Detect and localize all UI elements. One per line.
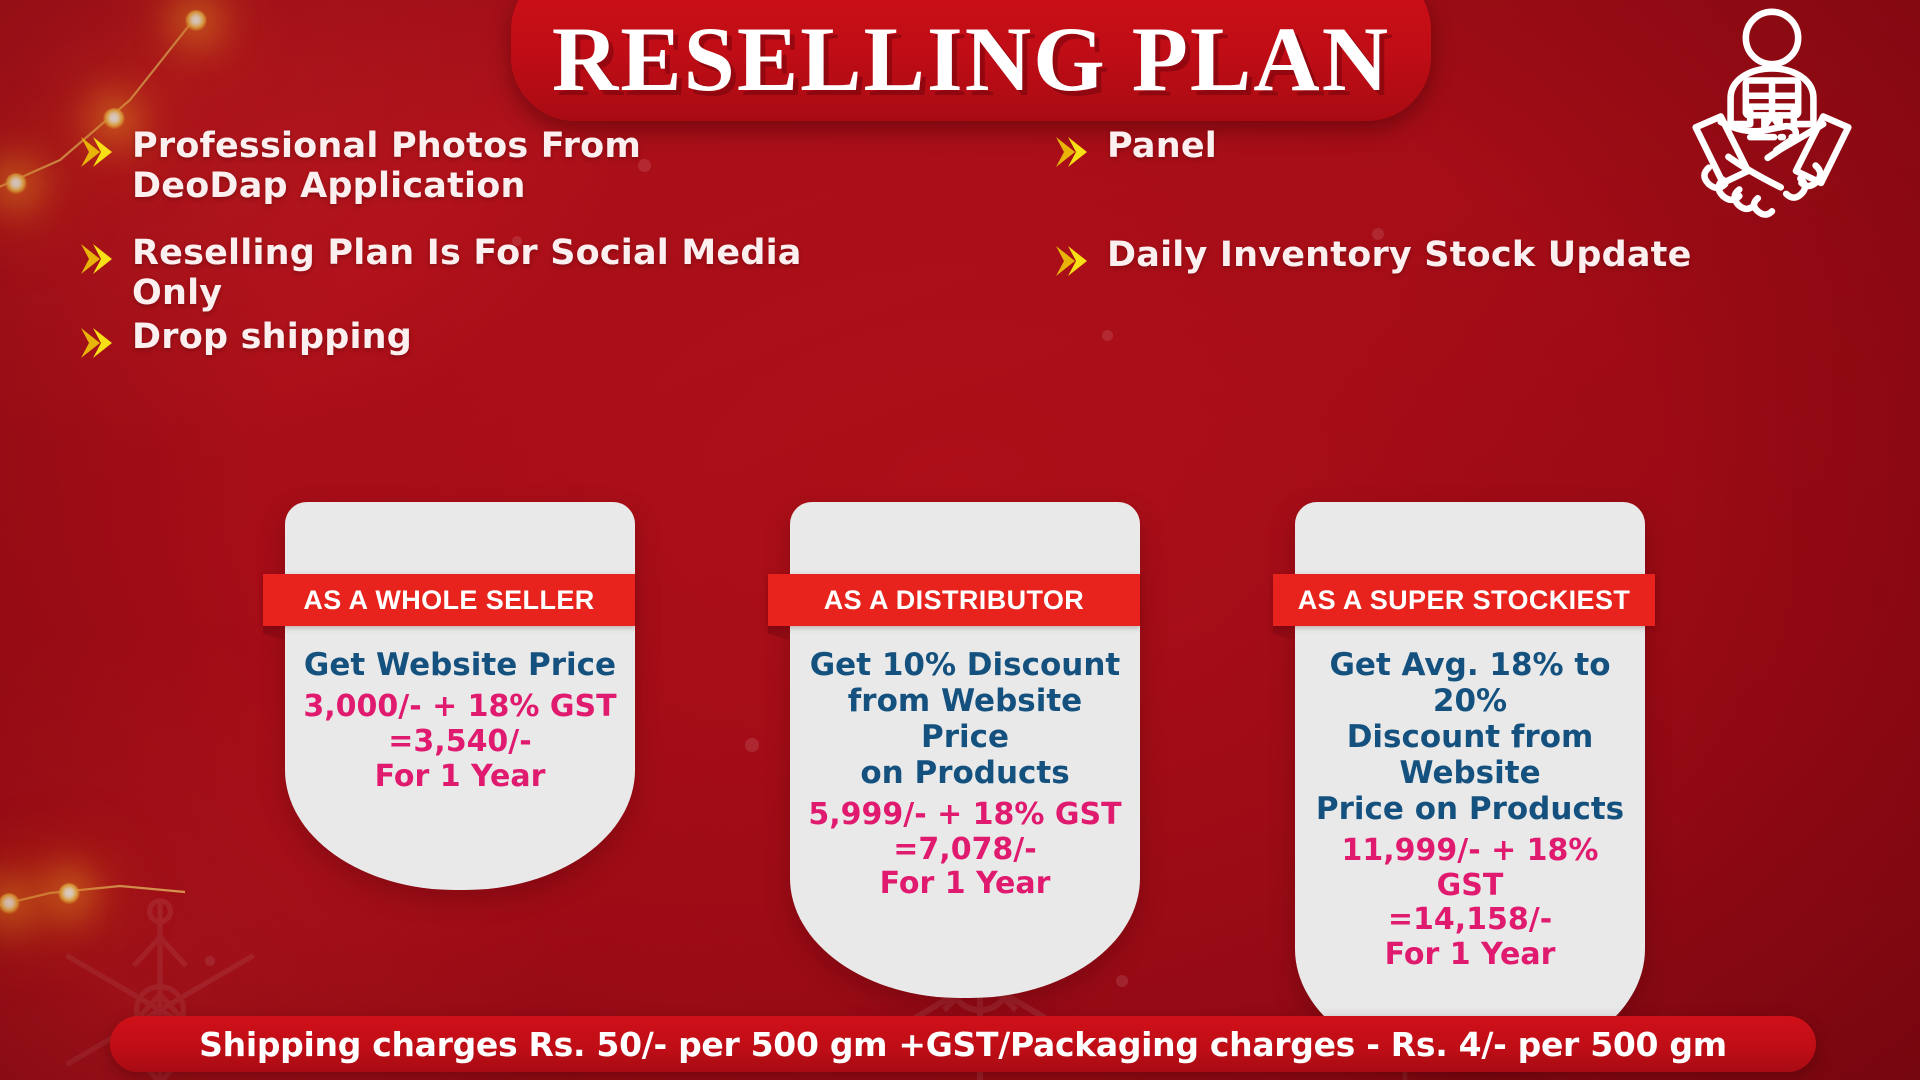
plan-ribbon-label: AS A DISTRIBUTOR (824, 585, 1084, 616)
plan-card-distributor: Get 10% Discount from Website Price on P… (790, 502, 1140, 998)
plan-price: 11,999/- + 18% GST =14,158/- For 1 Year (1309, 834, 1631, 973)
plan-card-content: Get Website Price 3,000/- + 18% GST =3,5… (285, 626, 635, 890)
plan-ribbon-label: AS A SUPER STOCKIEST (1298, 585, 1631, 616)
feature-item-social-media-only: Reselling Plan Is For Social Media Only (78, 234, 838, 314)
chevron-right-icon (1053, 135, 1093, 174)
plan-ribbon-label: AS A WHOLE SELLER (303, 585, 594, 616)
plan-title: Get Website Price (299, 648, 621, 684)
plan-card-content: Get 10% Discount from Website Price on P… (790, 626, 1140, 998)
feature-item-panel: Panel (1053, 127, 1353, 174)
chevron-right-icon (78, 242, 118, 281)
feature-label: Reselling Plan Is For Social Media Only (132, 234, 838, 314)
plan-card-content: Get Avg. 18% to 20% Discount from Websit… (1295, 626, 1645, 1069)
plan-ribbon: AS A SUPER STOCKIEST (1273, 574, 1655, 626)
plan-price: 3,000/- + 18% GST =3,540/- For 1 Year (299, 690, 621, 794)
plan-card-whole-seller: Get Website Price 3,000/- + 18% GST =3,5… (285, 502, 635, 890)
feature-label: Professional Photos From DeoDap Applicat… (132, 127, 798, 207)
plan-price: 5,999/- + 18% GST =7,078/- For 1 Year (804, 798, 1126, 902)
feature-label: Panel (1107, 127, 1217, 167)
feature-item-drop-shipping: Drop shipping (78, 318, 578, 365)
title-banner: RESELLING PLAN (511, 0, 1431, 121)
page-title: RESELLING PLAN (552, 13, 1390, 121)
feature-label: Drop shipping (132, 318, 412, 358)
plan-card-super-stockiest: Get Avg. 18% to 20% Discount from Websit… (1295, 502, 1645, 1069)
chevron-right-icon (78, 326, 118, 365)
footer-banner: Shipping charges Rs. 50/- per 500 gm +GS… (110, 1016, 1816, 1072)
plan-title: Get Avg. 18% to 20% Discount from Websit… (1309, 648, 1631, 828)
handshake-deal-icon (1663, 2, 1881, 220)
plan-ribbon: AS A DISTRIBUTOR (768, 574, 1140, 626)
feature-item-professional-photos: Professional Photos From DeoDap Applicat… (78, 127, 798, 207)
plan-ribbon: AS A WHOLE SELLER (263, 574, 635, 626)
feature-item-daily-inventory: Daily Inventory Stock Update (1053, 236, 1713, 283)
chevron-right-icon (1053, 244, 1093, 283)
footer-note: Shipping charges Rs. 50/- per 500 gm +GS… (199, 1025, 1727, 1064)
feature-label: Daily Inventory Stock Update (1107, 236, 1692, 276)
plan-card-body: Get Website Price 3,000/- + 18% GST =3,5… (285, 502, 635, 890)
plan-title: Get 10% Discount from Website Price on P… (804, 648, 1126, 792)
chevron-right-icon (78, 135, 118, 174)
